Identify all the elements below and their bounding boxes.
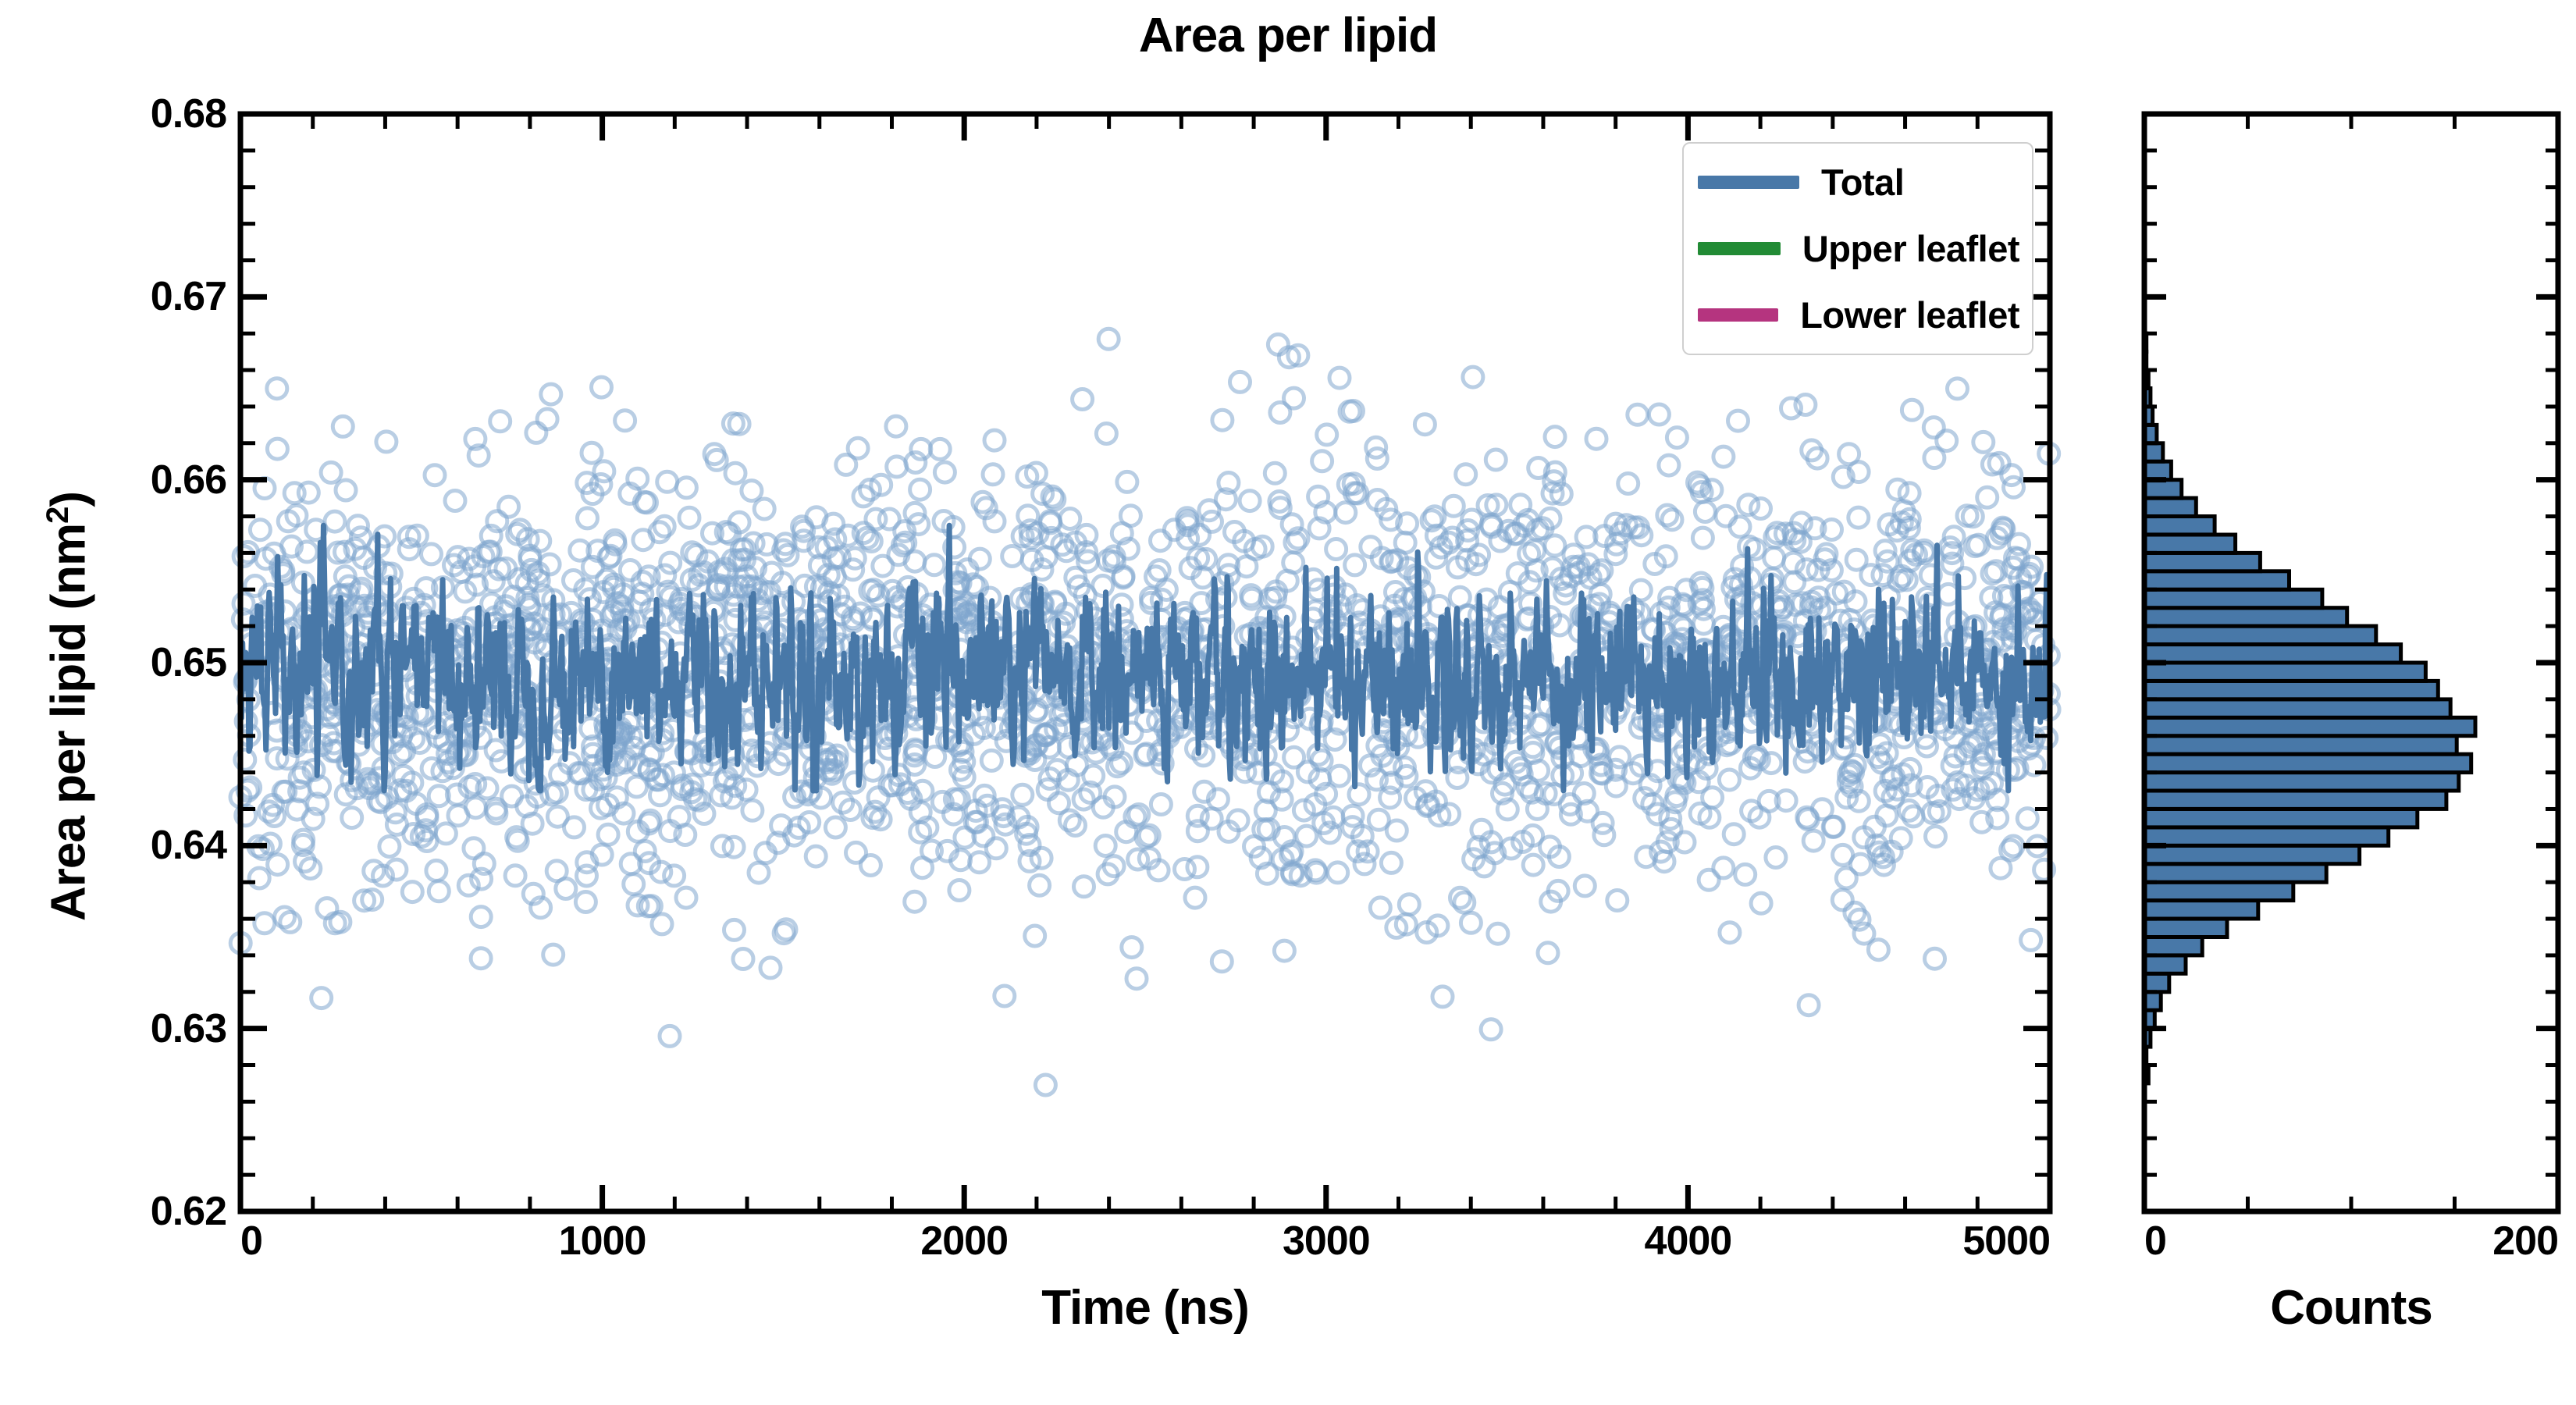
legend-color-swatch bbox=[1698, 308, 1778, 322]
figure-canvas: Area per lipid Area per lipid (nm2) Time… bbox=[0, 0, 2576, 1405]
legend-item-total[interactable]: Total bbox=[1684, 161, 2019, 204]
x-tick-label: 4000 bbox=[1645, 1218, 1732, 1264]
legend-item-label: Upper leaflet bbox=[1802, 227, 2019, 270]
y-tick-label: 0.66 bbox=[94, 457, 226, 503]
x-tick-label: 2000 bbox=[920, 1218, 1008, 1264]
x-tick-label: 5000 bbox=[1962, 1218, 2050, 1264]
x-tick-label: 3000 bbox=[1283, 1218, 1370, 1264]
histogram-x-tick-label: 200 bbox=[2492, 1218, 2558, 1264]
y-tick-label: 0.65 bbox=[94, 639, 226, 686]
x-tick-label: 0 bbox=[240, 1218, 262, 1264]
legend-item-lower-leaflet[interactable]: Lower leaflet bbox=[1684, 293, 2019, 336]
plot-surface bbox=[0, 0, 2576, 1405]
y-tick-label: 0.62 bbox=[94, 1188, 226, 1235]
histogram-x-tick-label: 0 bbox=[2144, 1218, 2166, 1264]
histogram-bars-layer bbox=[2144, 333, 2475, 1083]
y-tick-label: 0.64 bbox=[94, 822, 226, 869]
x-tick-label: 1000 bbox=[559, 1218, 646, 1264]
legend-color-swatch bbox=[1698, 176, 1799, 189]
y-tick-label: 0.68 bbox=[94, 91, 226, 137]
y-tick-label: 0.63 bbox=[94, 1005, 226, 1052]
legend-item-label: Total bbox=[1821, 161, 1904, 204]
y-tick-label: 0.67 bbox=[94, 273, 226, 320]
legend[interactable]: TotalUpper leafletLower leaflet bbox=[1682, 142, 2033, 355]
legend-color-swatch bbox=[1698, 242, 1781, 255]
legend-item-label: Lower leaflet bbox=[1800, 293, 2019, 336]
legend-item-upper-leaflet[interactable]: Upper leaflet bbox=[1684, 227, 2019, 270]
